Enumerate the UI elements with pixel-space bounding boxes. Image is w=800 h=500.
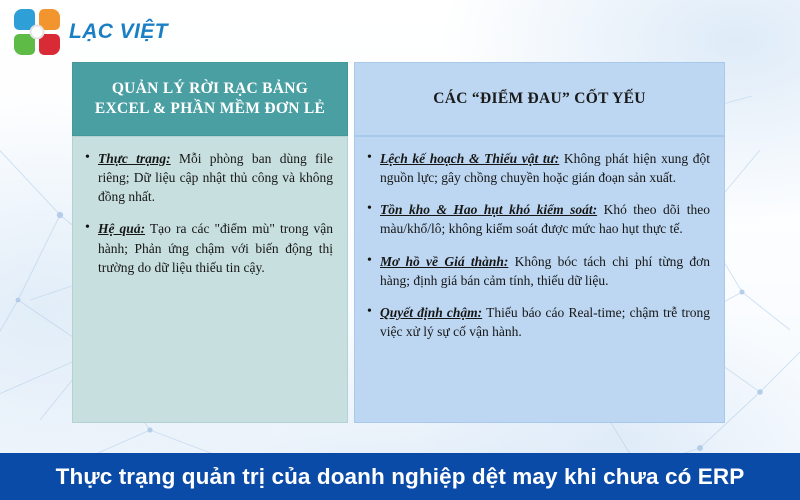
bullet-lead: Hệ quả: [98,221,145,236]
lac-viet-pinwheel-logo-icon [14,9,60,55]
bullet-lead: Lệch kế hoạch & Thiếu vật tư: [380,151,559,166]
column-header-pain-points: CÁC “ĐIỂM ĐAU” CỐT YẾU [354,62,725,136]
column-header-current-state: QUẢN LÝ RỜI RẠC BẢNG EXCEL & PHẦN MỀM ĐƠ… [72,62,348,136]
list-item: Mơ hồ về Giá thành: Không bóc tách chi p… [365,252,710,290]
bullet-list-pain-points: Lệch kế hoạch & Thiếu vật tư: Không phát… [365,149,710,341]
bullet-lead: Tồn kho & Hao hụt khó kiểm soát: [380,202,597,217]
column-body-pain-points: Lệch kế hoạch & Thiếu vật tư: Không phát… [354,136,725,423]
list-item: Thực trạng: Mỗi phòng ban dùng file riên… [83,149,333,206]
list-item: Lệch kế hoạch & Thiếu vật tư: Không phát… [365,149,710,187]
bullet-lead: Quyết định chậm: [380,305,482,320]
list-item: Hệ quả: Tạo ra các "điểm mù" trong vận h… [83,219,333,276]
comparison-table: QUẢN LÝ RỜI RẠC BẢNG EXCEL & PHẦN MỀM ĐƠ… [72,62,725,423]
brand-wordmark: LẠC VIỆT [69,20,168,44]
table-column-right: CÁC “ĐIỂM ĐAU” CỐT YẾU Lệch kế hoạch & T… [354,62,725,423]
list-item: Tồn kho & Hao hụt khó kiểm soát: Khó the… [365,200,710,238]
table-column-left: QUẢN LÝ RỜI RẠC BẢNG EXCEL & PHẦN MỀM ĐƠ… [72,62,348,423]
list-item: Quyết định chậm: Thiếu báo cáo Real-time… [365,303,710,341]
bullet-lead: Mơ hồ về Giá thành: [380,254,508,269]
bullet-list-current-state: Thực trạng: Mỗi phòng ban dùng file riên… [83,149,333,277]
brand-logo: LẠC VIỆT [14,6,168,58]
bottom-caption-banner: Thực trạng quản trị của doanh nghiệp dệt… [0,453,800,500]
bullet-lead: Thực trạng: [98,151,171,166]
column-body-current-state: Thực trạng: Mỗi phòng ban dùng file riên… [72,136,348,423]
caption-text: Thực trạng quản trị của doanh nghiệp dệt… [56,464,745,490]
logo-center-circle [30,25,45,40]
